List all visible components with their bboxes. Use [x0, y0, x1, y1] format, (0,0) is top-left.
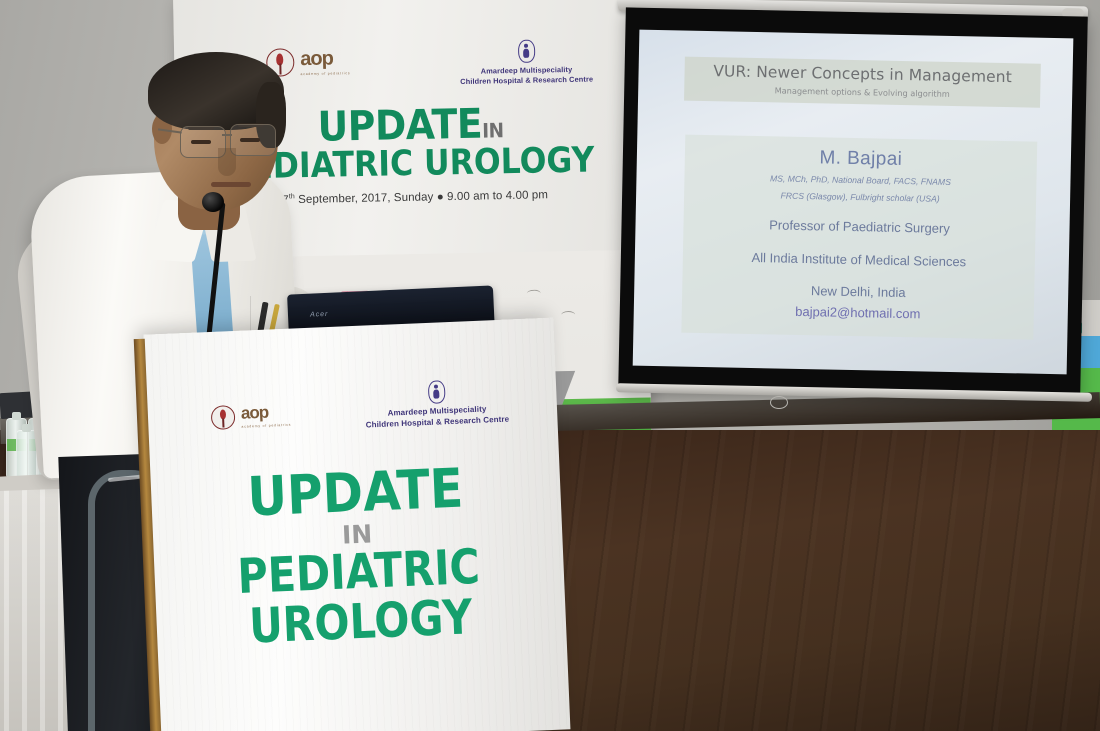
screen-pull-ring[interactable]	[770, 396, 788, 409]
slide-title: VUR: Newer Concepts in Management	[688, 62, 1036, 87]
speaker-nose	[218, 148, 236, 176]
slide-speaker-name: M. Bajpai	[689, 145, 1033, 174]
podium-panel: aop academy of pediatrics Amardeep Multi…	[144, 318, 571, 731]
slide-title-box: VUR: Newer Concepts in Management Manage…	[684, 57, 1041, 108]
slide-email: bajpai2@hotmail.com	[686, 302, 1030, 324]
slide-qualifications-line1: MS, MCh, PhD, National Board, FACS, FNAM…	[688, 171, 1032, 191]
banner-date-rest: September, 2017, Sunday ● 9.00 am to 4.0…	[295, 189, 548, 206]
iap-emblem-icon	[211, 405, 236, 430]
aop-logo: aop academy of pediatrics	[241, 403, 292, 429]
speaker-mouth	[211, 182, 251, 187]
aop-tagline: academy of pediatrics	[241, 423, 291, 429]
podium-title-block: UPDATE IN PEDIATRIC UROLOGY	[149, 459, 566, 654]
amardeep-logo: Amardeep Multispeciality Children Hospit…	[336, 376, 538, 432]
child-figure-icon	[427, 380, 445, 404]
slide-subtitle: Management options & Evolving algorithm	[688, 84, 1036, 101]
slide-affiliation-line2: All India Institute of Medical Sciences	[687, 247, 1031, 273]
speaker-eye-left	[191, 140, 211, 144]
speaker-eye-right	[240, 138, 260, 142]
laptop-brand-label: Acer	[310, 311, 329, 319]
aop-wordmark: aop	[241, 403, 291, 422]
microphone-icon	[202, 192, 224, 212]
slide-body-box: M. Bajpai MS, MCh, PhD, National Board, …	[681, 135, 1037, 340]
amardeep-logo: Amardeep Multispeciality Children Hospit…	[436, 38, 617, 87]
eyeglasses-bridge	[222, 134, 232, 136]
conference-photo-scene: aop academy of pediatrics Amardeep Multi…	[0, 0, 1100, 731]
child-figure-icon	[517, 40, 534, 63]
projected-slide: VUR: Newer Concepts in Management Manage…	[633, 30, 1074, 375]
slide-affiliation-line1: Professor of Paediatric Surgery	[687, 214, 1031, 240]
banner-in-word: IN	[482, 118, 504, 142]
slide-affiliation-line3: New Delhi, India	[686, 280, 1030, 306]
slide-qualifications-line2: FRCS (Glasgow), Fulbright scholar (USA)	[688, 188, 1032, 208]
projection-screen: VUR: Newer Concepts in Management Manage…	[618, 7, 1088, 398]
hospital-name-line2: Children Hospital & Research Centre	[437, 74, 617, 87]
